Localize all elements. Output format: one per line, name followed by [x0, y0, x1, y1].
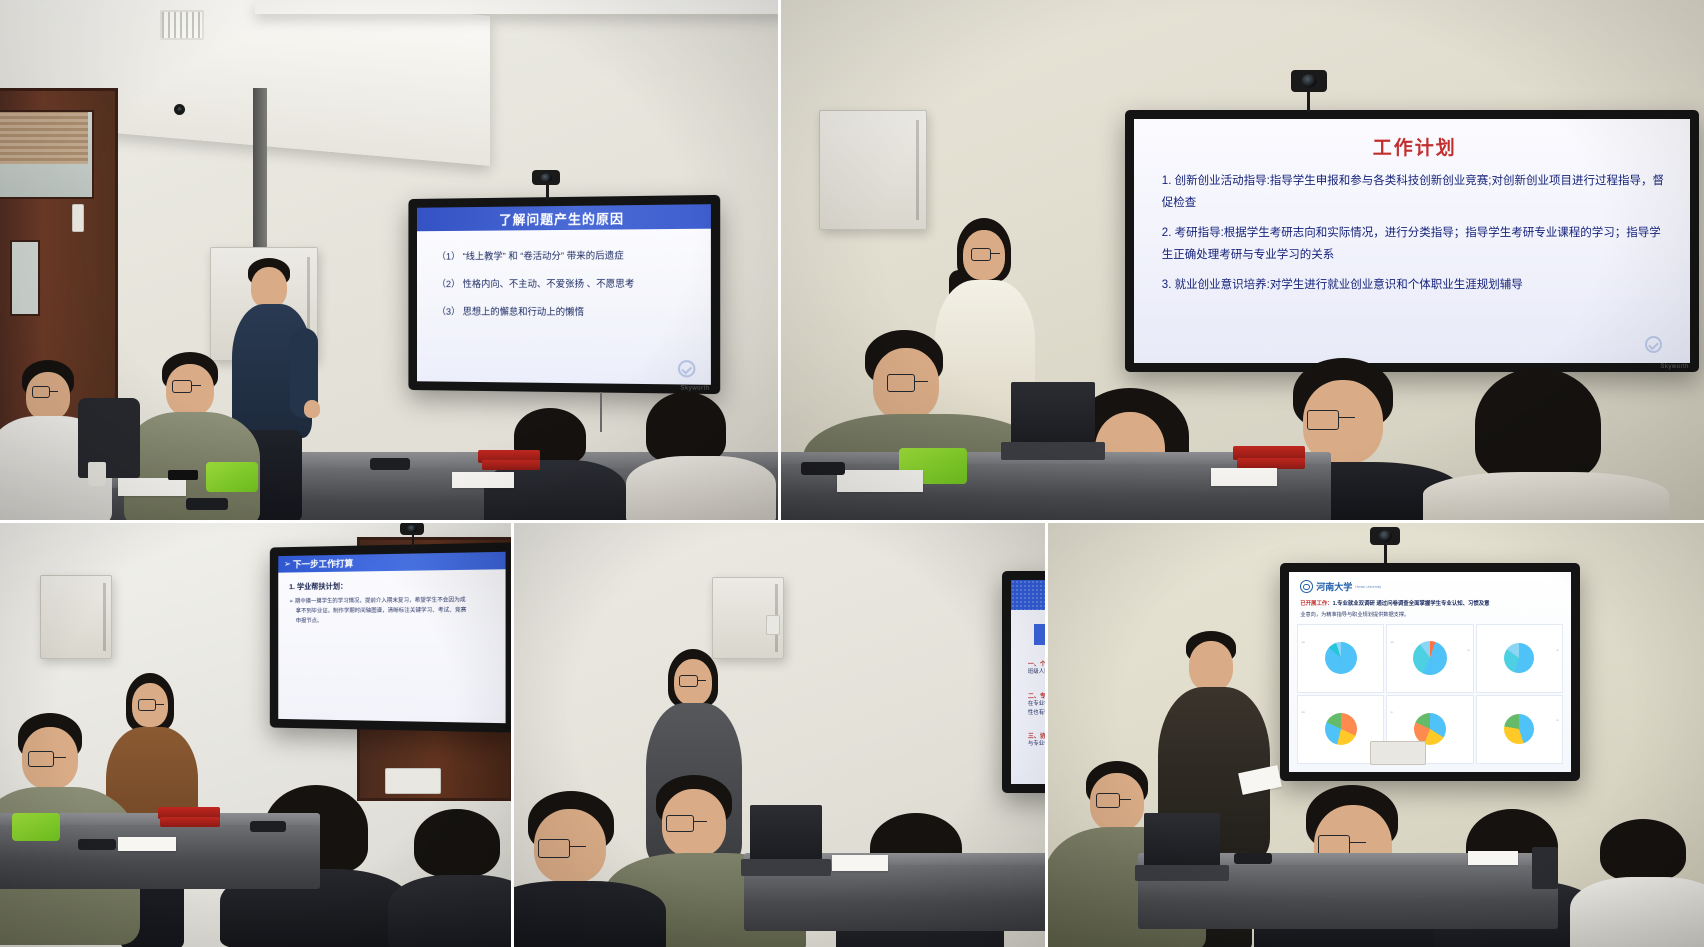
conference-camera-icon[interactable]: [1291, 70, 1327, 92]
glasses-icon: [1318, 835, 1350, 855]
chart-legend: ▪▪▪: [1390, 640, 1393, 645]
cup: [88, 462, 106, 486]
laptop[interactable]: [1144, 813, 1220, 867]
block-heading: 一、个体关注度有待加强：: [1028, 659, 1045, 668]
door-sign: [72, 204, 84, 232]
red-notebook: [482, 460, 540, 470]
slide-heading: 1. 学业帮扶计划：: [289, 579, 494, 592]
paper-sheet: [837, 470, 923, 492]
mobile-phone[interactable]: [168, 470, 198, 480]
conference-camera-icon[interactable]: [1370, 527, 1400, 545]
desk-microphone[interactable]: [801, 462, 845, 475]
camera-mount: [546, 184, 549, 200]
display-panel[interactable]: 存在问题 一、个体关注度有待加强： 班级人数较多，对部分同学的深入了解和个性化指…: [1002, 571, 1045, 793]
seated-woman-long-hair-right: [1431, 368, 1661, 520]
collage-gutter: [0, 520, 1704, 523]
ceiling-vent: [160, 10, 204, 40]
glasses-icon: [1307, 410, 1339, 430]
display-panel[interactable]: 工作计划 1. 创新创业活动指导:指导学生申报和参与各类科技创新创业竞赛;对创新…: [1125, 110, 1699, 372]
slide-title: 工作计划: [1162, 133, 1668, 160]
glasses-icon: [32, 386, 50, 398]
pie-chart-cell: ▪▪▪: [1297, 624, 1384, 693]
chart-legend: ▪▪: [1467, 648, 1469, 653]
display-screen: 河南大学 Henan University 已开展工作：1.专业就业双调研 通过…: [1289, 572, 1571, 772]
display-screen: ➢ 下一步工作打算 1. 学业帮扶计划： ➢ 期中摸一摸学生的学习情况，提前介入…: [278, 552, 505, 723]
block-text: 在专业学习的引导和学术志趣的激发上，力度还显不足，在指导学生参与科研项目、学科竞…: [1028, 700, 1045, 717]
mobile-phone[interactable]: [1532, 847, 1558, 889]
torso: [1423, 472, 1669, 520]
conference-camera-icon[interactable]: [400, 523, 424, 535]
chart-legend: ▪▪: [1556, 648, 1558, 653]
panel-bottom-left: ➢ 下一步工作打算 1. 学业帮扶计划： ➢ 期中摸一摸学生的学习情况，提前介入…: [0, 523, 511, 947]
slide-body: 1. 学业帮扶计划： ➢ 期中摸一摸学生的学习情况，提前介入期末复习，希望学生不…: [278, 569, 505, 636]
camera-mount: [1384, 545, 1387, 563]
glasses-icon: [538, 839, 570, 858]
seated-man-far-right: [1578, 819, 1704, 947]
red-notebook: [160, 817, 220, 827]
torso: [388, 875, 511, 947]
torso: [626, 456, 776, 520]
block-text: 班级人数较多，对部分同学的深入了解和个性化指导尚显不足: [1028, 668, 1045, 677]
seated-man-foreground-left: [514, 791, 660, 947]
desk-microphone[interactable]: [370, 458, 410, 470]
laptop[interactable]: [1011, 382, 1095, 444]
collage-gutter: [511, 523, 514, 947]
photo-collage: 了解问题产生的原因 （1） “线上教学” 和 “卷活动分” 带来的后遗症 （2）…: [0, 0, 1704, 947]
display-screen: 工作计划 1. 创新创业活动指导:指导学生申报和参与各类科技创新创业竞赛;对创新…: [1134, 119, 1690, 363]
wall-socket: [766, 615, 780, 635]
green-tissue-box: [12, 813, 60, 841]
block-text: 与专业任课教师、教务等部门的常态化沟通机制尚未建立健全，未能充分凝聚各方力量形成…: [1028, 740, 1045, 749]
slide-paragraph: 3. 就业创业意识培养:对学生进行就业创业意识和个体职业生涯规划辅导: [1162, 274, 1668, 296]
glasses-icon: [1096, 793, 1120, 808]
slide-line: （2） 性格内向、不主动、不爱张扬 、不愿思考: [437, 275, 690, 289]
slide-watermark-icon: [678, 360, 695, 377]
slide-root: 工作计划 1. 创新创业活动指导:指导学生申报和参与各类科技创新创业竞赛;对创新…: [1134, 119, 1690, 363]
slide-lead-2: 业意向，为精准指导与职业规划提供数据支撑。: [1289, 607, 1571, 618]
slide-line: 拿不到毕业证。制作学期时间轴图谱，清晰标注关键学习、考试、竞赛: [289, 606, 494, 617]
slide-header-band: [1011, 580, 1045, 610]
slide-paragraph: 2. 考研指导:根据学生考研志向和实际情况，进行分类指导；指导学生考研专业课程的…: [1162, 222, 1668, 267]
slide-line: 申报节点。: [289, 616, 494, 627]
chart-legend: ▪▪▪: [1301, 710, 1304, 715]
chart-legend: ▪▪: [1390, 710, 1392, 715]
pie-chart: [1413, 641, 1447, 675]
paper-sheet: [118, 478, 186, 496]
glasses-icon: [679, 675, 698, 687]
pie-chart: [1504, 714, 1534, 744]
slide-title: 下一步工作打算: [293, 557, 353, 571]
desk-microphone[interactable]: [1234, 853, 1272, 864]
pie-chart: [1325, 642, 1357, 674]
door-lower-panel: [10, 240, 40, 316]
paper-sheet: [1211, 468, 1277, 486]
paper-sheet: [832, 855, 888, 871]
pie-chart-cell: ▪▪▪ ▪▪: [1386, 624, 1473, 693]
slide-block: 三、协同育人机制有待完善： 与专业任课教师、教务等部门的常态化沟通机制尚未建立健…: [1028, 731, 1045, 749]
slide-title: 了解问题产生的原因: [417, 204, 711, 231]
wall-cabinet: [819, 110, 927, 230]
window-blind: [0, 112, 88, 164]
collage-gutter: [1045, 523, 1048, 947]
wall-cabinet: [40, 575, 112, 659]
chevron-right-icon: ➢: [284, 559, 291, 570]
torso: [1570, 877, 1704, 947]
logo-name-en: Henan University: [1355, 585, 1381, 589]
block-heading: 二、专业引领力有待提升：: [1028, 691, 1045, 700]
display-screen: 了解问题产生的原因 （1） “线上教学” 和 “卷活动分” 带来的后遗症 （2）…: [417, 204, 711, 385]
pie-chart: [1504, 643, 1534, 673]
torso: [514, 881, 666, 947]
panel-bottom-middle: 存在问题 一、个体关注度有待加强： 班级人数较多，对部分同学的深入了解和个性化指…: [514, 523, 1045, 947]
glasses-icon: [138, 699, 156, 711]
slide-title: 存在问题: [1034, 624, 1045, 645]
presenter-head: [251, 267, 287, 308]
wall-camera-icon: [174, 104, 185, 115]
slide-line: （1） “线上教学” 和 “卷活动分” 带来的后遗症: [437, 247, 690, 262]
paper-sheet: [452, 472, 514, 488]
slide-root: 河南大学 Henan University 已开展工作：1.专业就业双调研 通过…: [1289, 572, 1571, 772]
display-screen: 存在问题 一、个体关注度有待加强： 班级人数较多，对部分同学的深入了解和个性化指…: [1011, 580, 1045, 784]
chart-grid: ▪▪▪ ▪▪▪ ▪▪ ▪▪: [1289, 618, 1571, 772]
glasses-icon: [28, 751, 54, 767]
pie-chart: [1325, 713, 1357, 745]
slide-block: 一、个体关注度有待加强： 班级人数较多，对部分同学的深入了解和个性化指导尚显不足: [1028, 659, 1045, 677]
head-hair: [1475, 368, 1601, 480]
camera-mount: [1307, 92, 1310, 112]
display-panel[interactable]: ➢ 下一步工作打算 1. 学业帮扶计划： ➢ 期中摸一摸学生的学习情况，提前介入…: [270, 542, 511, 732]
head: [1189, 641, 1233, 691]
chart-legend: ▪▪: [1556, 718, 1558, 723]
logo-name-cn: 河南大学: [1316, 580, 1352, 593]
slide-watermark-icon: [1645, 336, 1662, 353]
slide-line: 期中摸一摸学生的学习情况，提前介入期末复习，希望学生不会因为成: [295, 598, 466, 605]
glasses-icon: [971, 248, 991, 261]
glasses-icon: [666, 815, 694, 832]
desk-microphone[interactable]: [78, 839, 116, 850]
paper-sheet: [1468, 851, 1518, 865]
slide-line: （3） 思想上的懈怠和行动上的懒惰: [437, 304, 690, 319]
slide-lead: 已开展工作：1.专业就业双调研 通过问卷调查全面掌握学生专业认知、习惯及意: [1289, 593, 1571, 607]
glasses-icon: [887, 374, 915, 392]
glasses-icon: [172, 380, 192, 393]
pie-chart-cell: ▪▪: [1476, 695, 1563, 764]
university-logo: 河南大学 Henan University: [1289, 572, 1571, 593]
camera-mount: [412, 533, 414, 547]
paper-sheet: [118, 837, 176, 851]
display-panel[interactable]: 河南大学 Henan University 已开展工作：1.专业就业双调研 通过…: [1280, 563, 1580, 781]
slide-block: 二、专业引领力有待提升： 在专业学习的引导和学术志趣的激发上，力度还显不足，在指…: [1028, 691, 1045, 717]
slide-body: （1） “线上教学” 和 “卷活动分” 带来的后遗症 （2） 性格内向、不主动、…: [417, 229, 711, 385]
head-hair: [1600, 819, 1686, 881]
display-brand: Skyworth: [680, 385, 710, 391]
wall-socket: [1370, 741, 1426, 765]
collage-gutter: [778, 0, 781, 523]
slide-root: 存在问题 一、个体关注度有待加强： 班级人数较多，对部分同学的深入了解和个性化指…: [1011, 580, 1045, 784]
chart-legend: ▪▪▪: [1301, 640, 1304, 645]
green-tissue-box: [206, 462, 258, 492]
slide-root: ➢ 下一步工作打算 1. 学业帮扶计划： ➢ 期中摸一摸学生的学习情况，提前介入…: [278, 552, 505, 723]
head-hair: [414, 809, 500, 877]
seated-woman-back-view: [630, 392, 770, 520]
seal-icon: [1300, 580, 1313, 593]
panel-top-right: 工作计划 1. 创新创业活动指导:指导学生申报和参与各类科技创新创业竞赛;对创新…: [781, 0, 1704, 520]
desk-microphone[interactable]: [186, 498, 228, 510]
display-panel[interactable]: 了解问题产生的原因 （1） “线上教学” 和 “卷活动分” 带来的后遗症 （2）…: [408, 195, 720, 394]
presenter-hand: [304, 400, 320, 418]
panel-top-left: 了解问题产生的原因 （1） “线上教学” 和 “卷活动分” 带来的后遗症 （2）…: [0, 0, 778, 520]
conference-camera-icon[interactable]: [532, 170, 560, 185]
head-hair: [646, 392, 726, 462]
ceiling-edge: [255, 0, 778, 14]
slide-paragraph: 1. 创新创业活动指导:指导学生申报和参与各类科技创新创业竞赛;对创新创业项目进…: [1162, 170, 1668, 215]
display-brand: Skyworth: [1660, 364, 1689, 370]
seated-man-right-back: [396, 809, 511, 947]
desk-microphone[interactable]: [250, 821, 286, 832]
panel-bottom-right: 河南大学 Henan University 已开展工作：1.专业就业双调研 通过…: [1048, 523, 1704, 947]
bullet-icon: ➢: [289, 599, 293, 605]
slide-root: 了解问题产生的原因 （1） “线上教学” 和 “卷活动分” 带来的后遗症 （2）…: [417, 204, 711, 385]
block-heading: 三、协同育人机制有待完善：: [1028, 731, 1045, 740]
laptop[interactable]: [750, 805, 822, 861]
pie-chart-cell: ▪▪: [1476, 624, 1563, 693]
